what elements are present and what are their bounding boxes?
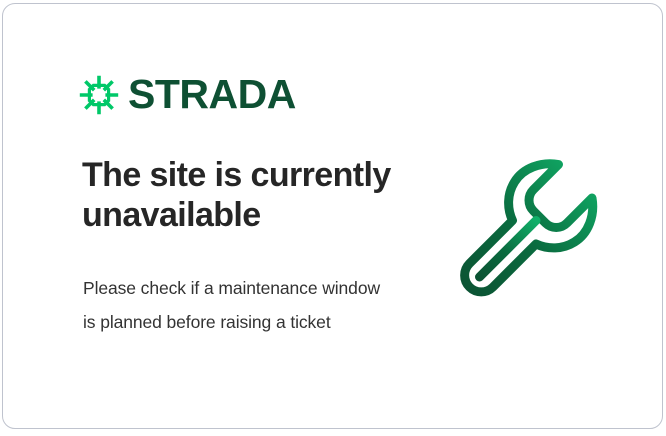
brand-wordmark: STRADA [128, 74, 296, 115]
status-description: Please check if a maintenance window is … [83, 272, 393, 339]
strada-asterisk-icon [79, 75, 119, 115]
error-page: STRADA The site is currently unavailable… [0, 0, 666, 436]
wrench-icon [455, 156, 615, 316]
page-title: The site is currently unavailable [82, 155, 422, 235]
status-card: STRADA The site is currently unavailable… [2, 3, 663, 429]
brand-logo: STRADA [79, 74, 296, 115]
